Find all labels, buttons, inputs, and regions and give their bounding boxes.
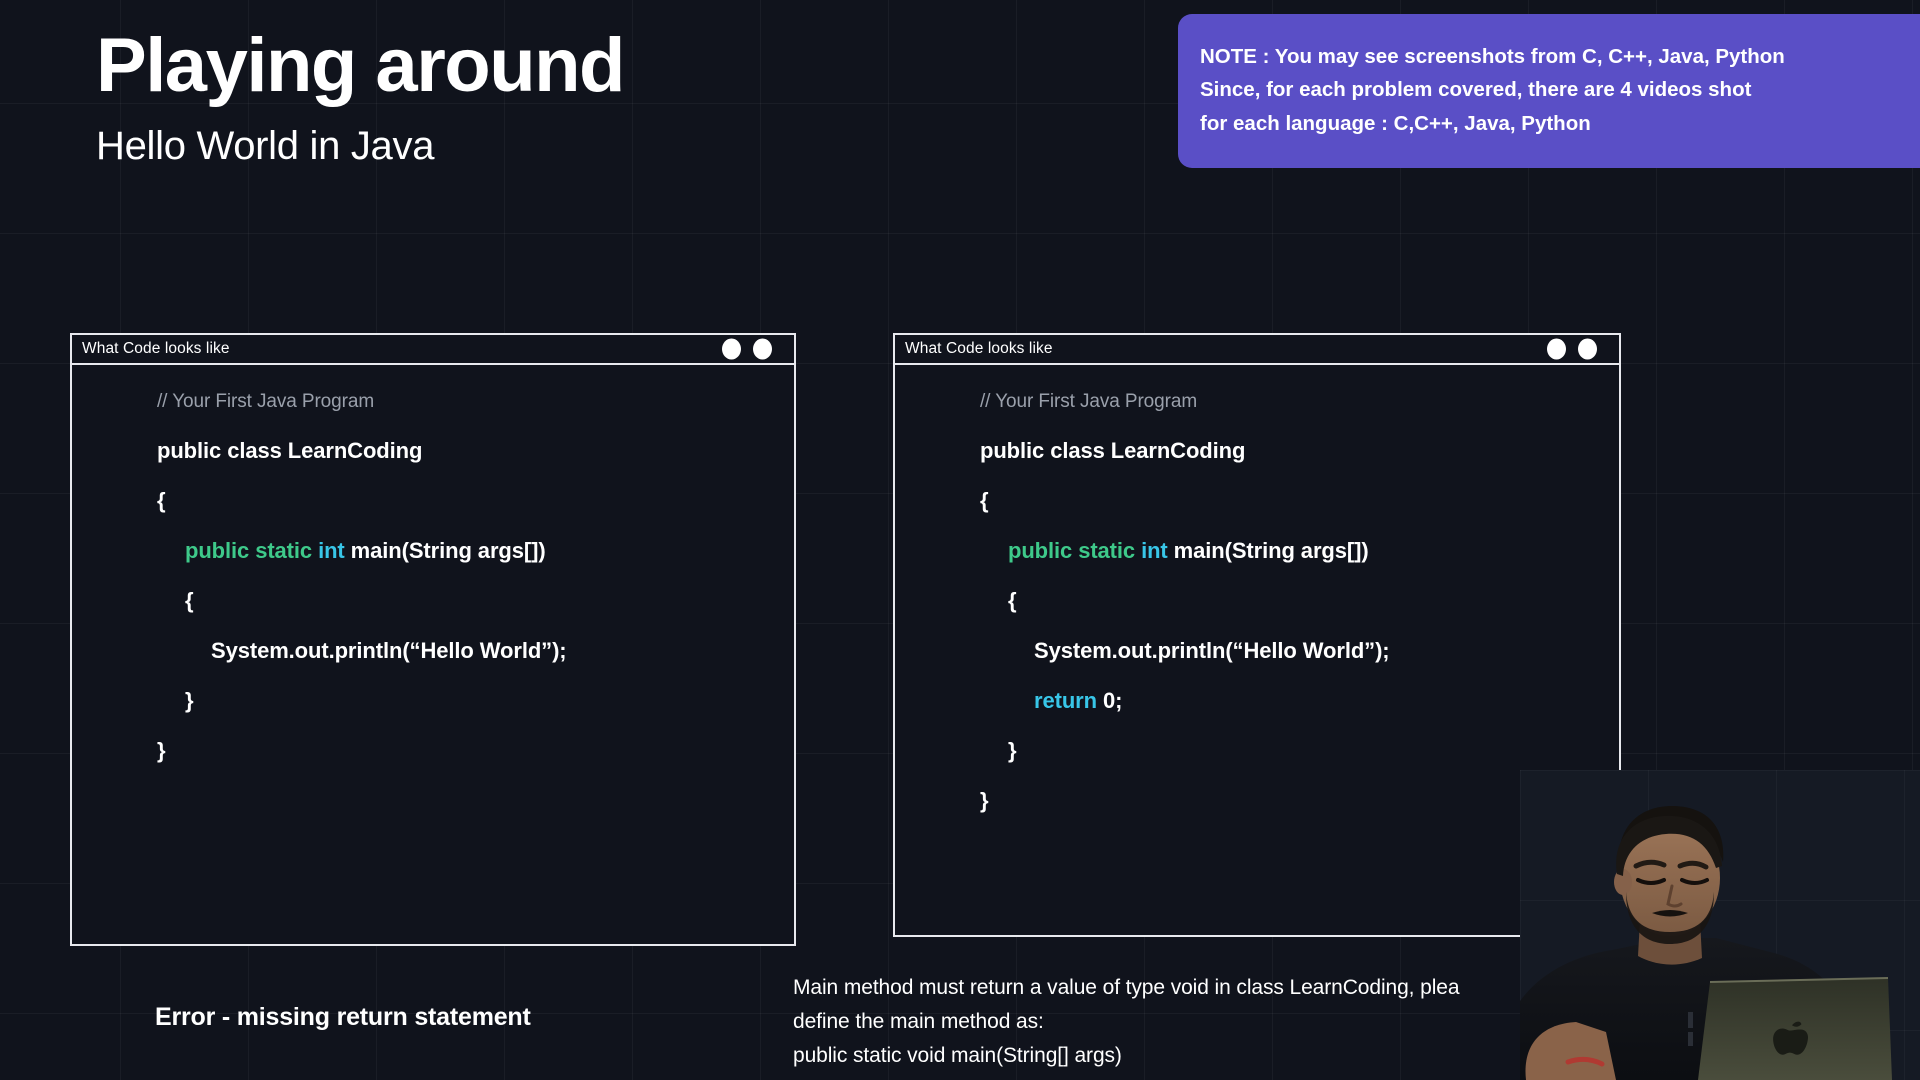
code-line: } xyxy=(72,740,794,790)
page-subtitle: Hello World in Java xyxy=(96,124,624,169)
method-signature-rest: main(String args[]) xyxy=(1174,540,1369,562)
code-line: // Your First Java Program xyxy=(895,392,1619,440)
window-dot-icon[interactable] xyxy=(1547,339,1566,360)
code-window-left: What Code looks like // Your First Java … xyxy=(70,333,796,946)
note-callout: NOTE : You may see screenshots from C, C… xyxy=(1178,14,1920,168)
code-line: System.out.println(“Hello World”); xyxy=(895,640,1619,690)
code-window-right-body: // Your First Java Program public class … xyxy=(895,365,1619,840)
window-dot-icon[interactable] xyxy=(1578,339,1597,360)
code-window-right-titlebar: What Code looks like xyxy=(895,335,1619,365)
code-window-right: What Code looks like // Your First Java … xyxy=(893,333,1621,937)
note-line-3: for each language : C,C++, Java, Python xyxy=(1200,107,1920,140)
shirt-print-mark xyxy=(1688,1012,1693,1028)
code-line: { xyxy=(72,490,794,540)
slide-canvas: Playing around Hello World in Java NOTE … xyxy=(0,0,1920,1080)
method-signature-rest: main(String args[]) xyxy=(351,540,546,562)
error-caption: Error - missing return statement xyxy=(155,1003,531,1032)
code-line: } xyxy=(895,790,1619,840)
code-window-left-controls xyxy=(722,339,772,360)
window-dot-icon[interactable] xyxy=(722,339,741,360)
code-line: // Your First Java Program xyxy=(72,392,794,440)
slide-header: Playing around Hello World in Java xyxy=(96,26,624,169)
code-line: } xyxy=(895,740,1619,790)
code-line-return: return 0; xyxy=(895,690,1619,740)
window-dot-icon[interactable] xyxy=(753,339,772,360)
page-title: Playing around xyxy=(96,26,624,106)
code-window-left-titlebar: What Code looks like xyxy=(72,335,794,365)
shirt-print-mark xyxy=(1688,1032,1693,1046)
code-window-right-title: What Code looks like xyxy=(905,340,1053,358)
code-line: System.out.println(“Hello World”); xyxy=(72,640,794,690)
presenter-figure-icon xyxy=(1520,770,1920,1080)
laptop-lid xyxy=(1698,978,1892,1080)
keyword-public-static: public static xyxy=(1008,540,1135,562)
code-line: } xyxy=(72,690,794,740)
presenter-video-overlay xyxy=(1520,770,1920,1080)
keyword-int: int xyxy=(1141,540,1168,562)
code-line: { xyxy=(895,590,1619,640)
code-window-left-body: // Your First Java Program public class … xyxy=(72,365,794,790)
note-line-2: Since, for each problem covered, there a… xyxy=(1200,73,1920,106)
code-line-signature: public static int main(String args[]) xyxy=(72,540,794,590)
note-line-1: NOTE : You may see screenshots from C, C… xyxy=(1200,40,1920,73)
code-line-signature: public static int main(String args[]) xyxy=(895,540,1619,590)
return-value: 0; xyxy=(1103,690,1122,712)
keyword-int: int xyxy=(318,540,345,562)
keyword-public-static: public static xyxy=(185,540,312,562)
code-window-left-title: What Code looks like xyxy=(82,340,230,358)
code-line: public class LearnCoding xyxy=(72,440,794,490)
code-line: public class LearnCoding xyxy=(895,440,1619,490)
code-line: { xyxy=(72,590,794,640)
code-line: { xyxy=(895,490,1619,540)
code-window-right-controls xyxy=(1547,339,1597,360)
keyword-return: return xyxy=(1034,690,1097,712)
